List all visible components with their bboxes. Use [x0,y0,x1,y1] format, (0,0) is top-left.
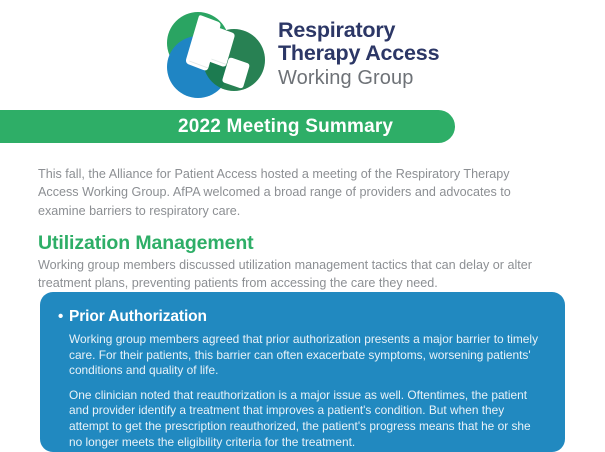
callout-title-text: Prior Authorization [69,308,207,326]
logo-wordmark-line3: Working Group [278,68,439,88]
document-page: Respiratory Therapy Access Working Group… [0,0,605,439]
document-header: Respiratory Therapy Access Working Group [0,0,605,108]
intro-paragraph: This fall, the Alliance for Patient Acce… [38,165,550,221]
logo-wordmark: Respiratory Therapy Access Working Group [278,20,439,88]
callout-paragraph-1: Working group members agreed that prior … [58,332,541,379]
section-heading-utilization-management: Utilization Management [38,232,254,255]
logo-svg [160,9,268,101]
callout-title-row: • Prior Authorization [58,308,541,326]
meeting-summary-banner: 2022 Meeting Summary [0,110,455,143]
rtawg-inhaler-circles-logo [160,9,268,101]
callout-paragraph-2: One clinician noted that reauthorization… [58,388,541,450]
logo-wordmark-line1: Respiratory [278,20,439,42]
logo-wordmark-line2: Therapy Access [278,43,439,65]
section-body-utilization-management: Working group members discussed utilizat… [38,256,550,293]
callout-prior-authorization: • Prior Authorization Working group memb… [40,292,565,452]
bullet-icon: • [58,309,69,324]
banner-title: 2022 Meeting Summary [178,116,393,138]
